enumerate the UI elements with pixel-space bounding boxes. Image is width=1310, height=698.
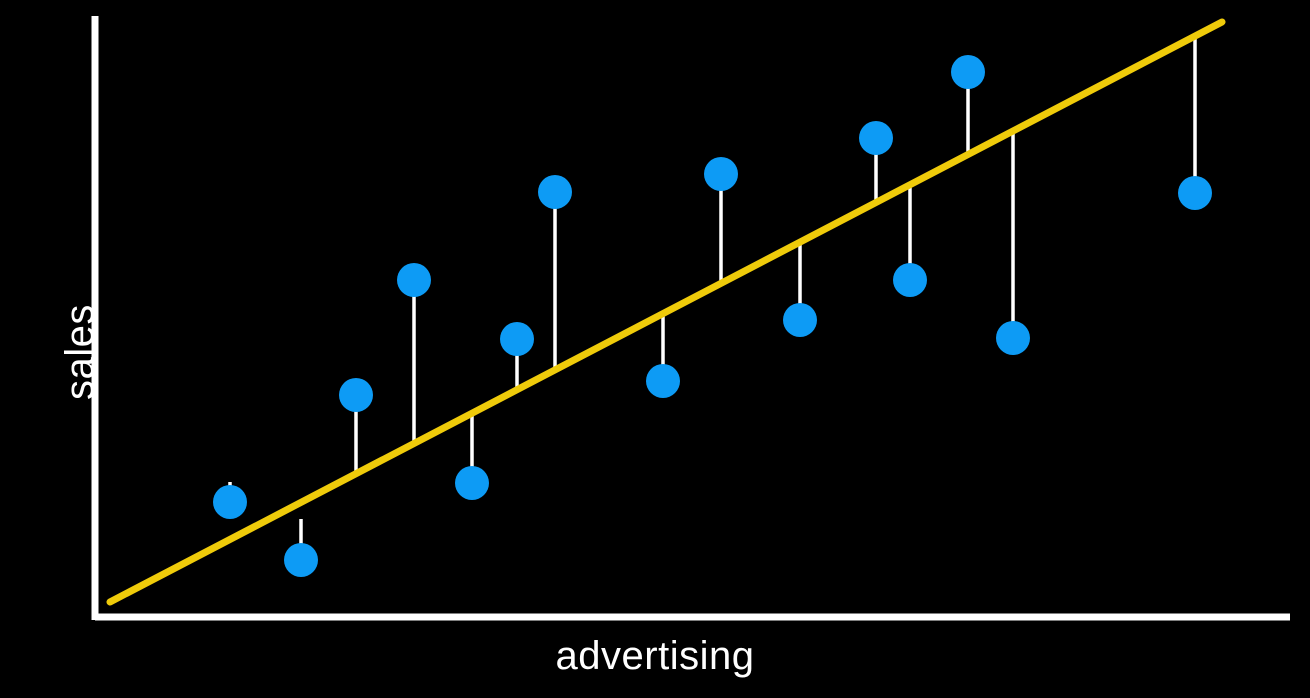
data-point[interactable] (284, 543, 318, 577)
data-point[interactable] (213, 485, 247, 519)
data-point[interactable] (455, 466, 489, 500)
data-point[interactable] (397, 263, 431, 297)
scatter-plot-figure: sales advertising (0, 0, 1310, 698)
data-point[interactable] (951, 55, 985, 89)
data-point[interactable] (1178, 176, 1212, 210)
data-point[interactable] (996, 321, 1030, 355)
data-point[interactable] (859, 121, 893, 155)
data-point[interactable] (339, 378, 373, 412)
data-point[interactable] (500, 322, 534, 356)
data-point[interactable] (893, 263, 927, 297)
x-axis-label: advertising (0, 634, 1310, 679)
data-point[interactable] (538, 175, 572, 209)
data-point[interactable] (704, 157, 738, 191)
plot-area (0, 0, 1310, 698)
data-point[interactable] (646, 364, 680, 398)
y-axis-label: sales (58, 304, 103, 400)
data-point[interactable] (783, 303, 817, 337)
plot-background (0, 0, 1310, 698)
